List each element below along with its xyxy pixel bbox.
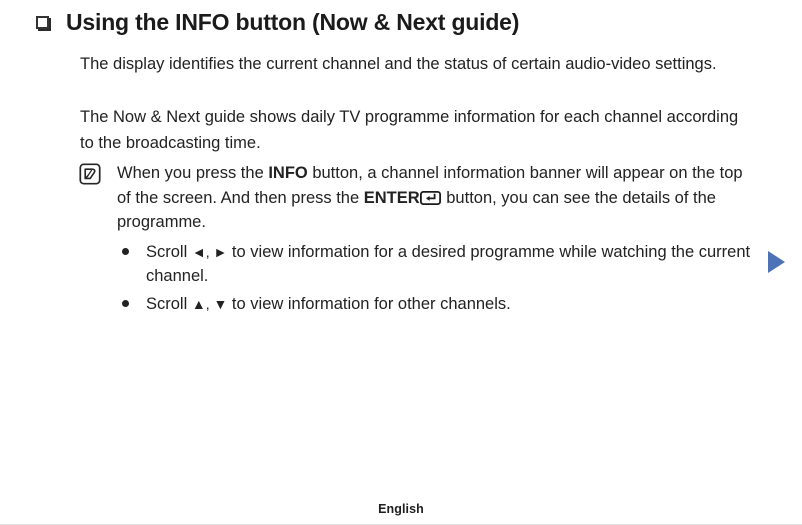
- page-title: Using the INFO button (Now & Next guide): [66, 7, 519, 37]
- manual-page: Using the INFO button (Now & Next guide)…: [0, 0, 802, 525]
- note-segment-text-1: When you press the: [117, 164, 268, 182]
- bullet-list: Scroll ◄, ► to view information for a de…: [122, 240, 756, 320]
- note-segment-bold-enter: ENTER: [364, 189, 420, 207]
- note-pencil-icon: [79, 163, 101, 185]
- intro-paragraph-1: The display identifies the current chann…: [80, 51, 752, 77]
- footer-language-label: English: [0, 502, 802, 516]
- note-segment-bold-info: INFO: [268, 164, 307, 182]
- bullet-1-suffix: to view information for a desired progra…: [146, 243, 750, 285]
- page-heading: Using the INFO button (Now & Next guide): [36, 7, 519, 37]
- bullet-text-2: Scroll ▲, ▼ to view information for othe…: [146, 292, 756, 316]
- round-bullet-icon: [122, 248, 129, 255]
- list-item: Scroll ◄, ► to view information for a de…: [122, 240, 756, 288]
- note-block: When you press the INFO button, a channe…: [79, 161, 755, 235]
- bullet-text-1: Scroll ◄, ► to view information for a de…: [146, 240, 756, 288]
- intro-paragraph-2: The Now & Next guide shows daily TV prog…: [80, 104, 752, 156]
- up-down-arrow-glyphs: ▲, ▼: [192, 296, 228, 312]
- note-text: When you press the INFO button, a channe…: [117, 161, 755, 235]
- hollow-square-bullet-icon: [36, 16, 52, 32]
- enter-key-icon: [420, 188, 441, 202]
- bullet-2-prefix: Scroll: [146, 295, 192, 313]
- bullet-1-prefix: Scroll: [146, 243, 192, 261]
- round-bullet-icon: [122, 300, 129, 307]
- left-right-arrow-glyphs: ◄, ►: [192, 244, 228, 260]
- list-item: Scroll ▲, ▼ to view information for othe…: [122, 292, 756, 316]
- next-page-arrow-icon[interactable]: [768, 251, 785, 273]
- bullet-2-suffix: to view information for other channels.: [227, 295, 510, 313]
